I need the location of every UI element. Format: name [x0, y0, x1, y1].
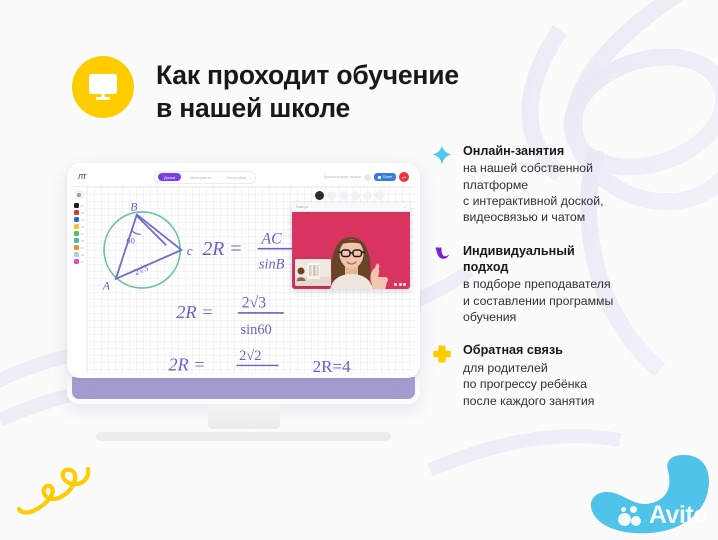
video-feed: [292, 212, 410, 289]
room-label: Демонстрация экрана: [324, 175, 361, 179]
pip-thumbnail[interactable]: [295, 259, 331, 286]
redo-tool-icon[interactable]: [399, 191, 408, 200]
feature-list: Онлайн-занятия на нашей собственной плат…: [432, 143, 694, 426]
swatch-magenta: [74, 259, 84, 264]
eraser-tool-icon[interactable]: [327, 191, 336, 200]
feature-title: Обратная связь: [463, 342, 694, 358]
feature-body: на нашей собственной платформе с интерак…: [463, 160, 694, 225]
app-toolbar: ЛТ Доска Материалы Настройки Демонстраци…: [72, 168, 415, 187]
note-tool-icon[interactable]: [339, 191, 348, 200]
tab-board[interactable]: Доска: [158, 173, 181, 181]
svg-text:2R =: 2R =: [176, 302, 213, 322]
swatch-red: [74, 210, 84, 215]
feature-item: Онлайн-занятия на нашей собственной плат…: [432, 143, 694, 226]
swatch-orange: [74, 245, 84, 250]
move-tool-icon[interactable]: [375, 191, 384, 200]
svg-text:2R =: 2R =: [202, 238, 242, 260]
yellow-spiral-doodle: [16, 465, 94, 532]
whiteboard-canvas[interactable]: B A 60 2√3 c 2R = AC sinB: [87, 187, 415, 373]
swatch-color[interactable]: [74, 203, 79, 208]
swatch-color[interactable]: [74, 245, 79, 250]
monitor-stand-neck: [208, 404, 280, 429]
app-body: B A 60 2√3 c 2R = AC sinB: [72, 187, 415, 373]
pen-tool-icon[interactable]: [315, 191, 324, 200]
svg-text:sinB: sinB: [259, 256, 285, 272]
svg-text:B: B: [130, 200, 137, 214]
swatch-yellow: [74, 224, 84, 229]
swatch-color[interactable]: [74, 224, 79, 229]
app-toolbar-right: Демонстрация экрана Share: [324, 172, 409, 182]
color-palette-rail[interactable]: [72, 187, 87, 373]
phone-hangup-icon[interactable]: [399, 172, 409, 182]
video-call-panel[interactable]: Камера ⌄: [292, 203, 410, 289]
avito-watermark: Avito: [618, 501, 708, 530]
swatch-green: [74, 231, 84, 236]
page-header: Как проходит обучение в нашей школе: [72, 56, 459, 125]
feature-item: Обратная связь для родителей по прогресс…: [432, 342, 694, 408]
floating-toolbar[interactable]: [315, 191, 408, 200]
swatch-color[interactable]: [74, 259, 79, 264]
share-icon: [378, 176, 381, 179]
plus-icon: [432, 342, 452, 408]
page-title: Как проходит обучение в нашей школе: [156, 56, 459, 125]
monitor-chin: [67, 377, 420, 404]
svg-text:60: 60: [126, 235, 135, 245]
lock-icon[interactable]: [75, 190, 84, 199]
app-logo: ЛТ: [78, 174, 86, 181]
svg-text:sin60: sin60: [240, 322, 271, 338]
shape-tool-icon[interactable]: [351, 191, 360, 200]
video-title: Камера: [296, 205, 308, 209]
video-panel-header: Камера ⌄: [292, 203, 410, 212]
swatch-color[interactable]: [74, 210, 79, 215]
feature-body: в подборе преподавателя и составлении пр…: [463, 276, 694, 325]
avito-logo-dots: [618, 505, 646, 527]
monitor-icon: [72, 56, 134, 118]
video-collapse-icon[interactable]: ⌄: [403, 205, 406, 209]
image-tool-icon[interactable]: [363, 191, 372, 200]
tab-settings[interactable]: Настройки: [220, 173, 252, 181]
feature-title: Онлайн-занятия: [463, 143, 694, 159]
gear-icon[interactable]: [364, 174, 371, 181]
whiteboard-app: ЛТ Доска Материалы Настройки Демонстраци…: [72, 168, 415, 373]
feature-item: Индивидуальный подход в подборе преподав…: [432, 243, 694, 326]
swatch-gray: [74, 252, 84, 257]
feature-title: Индивидуальный подход: [463, 243, 694, 276]
swatch-color[interactable]: [74, 252, 79, 257]
swatch-blue: [74, 217, 84, 222]
undo-tool-icon[interactable]: [387, 191, 396, 200]
monitor-stand-base: [96, 432, 391, 441]
svg-text:2√3: 2√3: [242, 295, 267, 312]
svg-text:2√2: 2√2: [239, 348, 261, 364]
swatch-black: [74, 203, 84, 208]
swatch-teal: [74, 238, 84, 243]
swatch-color[interactable]: [74, 238, 79, 243]
svg-text:2R =: 2R =: [168, 355, 205, 373]
svg-text:A: A: [102, 278, 111, 292]
monitor-illustration: ЛТ Доска Материалы Настройки Демонстраци…: [67, 163, 420, 441]
svg-text:c: c: [187, 243, 193, 258]
star-sparkle-icon: [432, 143, 452, 226]
crescent-icon: [432, 243, 452, 326]
share-button[interactable]: Share: [374, 173, 396, 181]
swatch-color[interactable]: [74, 231, 79, 236]
app-tabs[interactable]: Доска Материалы Настройки: [154, 171, 256, 184]
svg-text:2R=4: 2R=4: [313, 357, 352, 373]
monitor-screen: ЛТ Доска Материалы Настройки Демонстраци…: [67, 163, 420, 378]
tab-materials[interactable]: Материалы: [184, 173, 217, 181]
svg-text:AC: AC: [260, 230, 282, 247]
feature-body: для родителей по прогрессу ребёнка после…: [463, 360, 694, 409]
swatch-color[interactable]: [74, 217, 79, 222]
avito-wordmark: Avito: [649, 501, 708, 530]
more-dots-icon[interactable]: [394, 283, 406, 286]
